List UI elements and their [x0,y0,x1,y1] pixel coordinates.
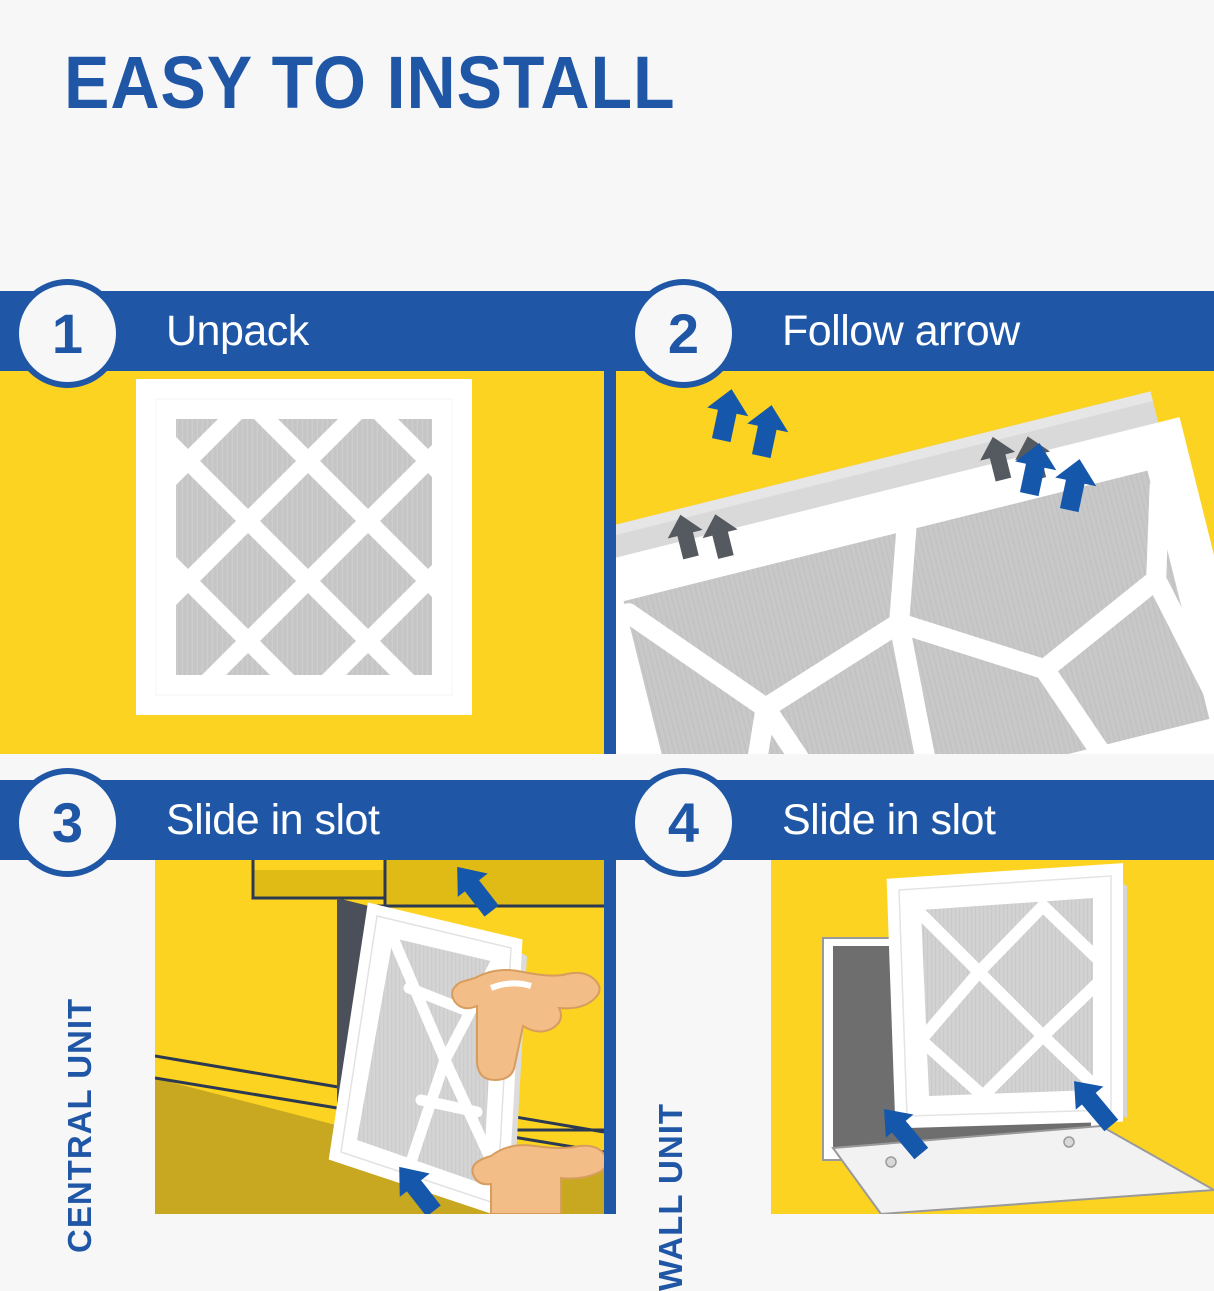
step-1-header: 1 Unpack [0,291,604,371]
step-1-number: 1 [52,306,83,362]
step-2-label: Follow arrow [782,307,1020,356]
step-4-number-badge: 4 [629,768,738,877]
step-4-illustration-area [771,860,1214,1214]
step-1-number-badge: 1 [13,279,122,388]
air-filter-tilted-with-airflow-arrows-illustration [616,371,1214,754]
column-divider [604,251,616,1214]
step-3-number-badge: 3 [13,768,122,877]
step-2-number-badge: 2 [629,279,738,388]
step-3-label: Slide in slot [166,796,379,845]
step-3-header: 3 Slide in slot [0,780,604,860]
step-panel-4: 4 Slide in slot WALL UNIT [616,754,1214,1214]
step-3-number: 3 [52,795,83,851]
step-2-number: 2 [668,306,699,362]
step-2-illustration-area [616,371,1214,754]
step-3-illustration-area [155,860,604,1214]
step-3-side-label: CENTRAL UNIT [32,923,128,1253]
step-1-label: Unpack [166,307,309,356]
air-filter-flat-illustration [0,371,604,754]
step-4-header: 4 Slide in slot [616,780,1214,860]
step-4-number: 4 [668,795,699,851]
step-2-header: 2 Follow arrow [616,291,1214,371]
step-panel-2: 2 Follow arrow [616,251,1214,754]
hands-inserting-filter-into-central-unit-illustration [155,860,604,1214]
column-divider-notch-top [604,251,616,291]
step-4-label: Slide in slot [782,796,995,845]
step-4-side-label: WALL UNIT [623,961,719,1291]
step-panel-1: 1 Unpack [0,251,604,754]
step-panel-3: 3 Slide in slot CENTRAL UNIT [0,754,604,1214]
page-title: EASY TO INSTALL [64,46,675,120]
step-1-illustration-area [0,371,604,754]
steps-grid: 1 Unpack [0,251,1214,1214]
filter-inserted-into-wall-unit-grille-illustration [771,860,1214,1214]
column-divider-notch-middle [604,754,616,780]
